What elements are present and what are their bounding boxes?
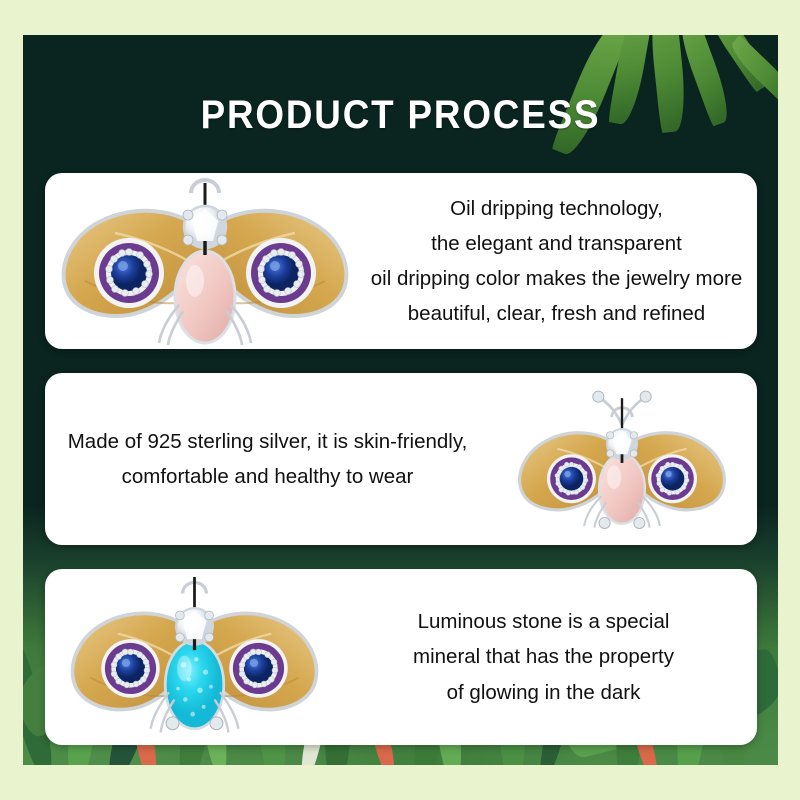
card-text-line: of glowing in the dark xyxy=(351,675,737,710)
card-text-oil-dripping: Oil dripping technology, the elegant and… xyxy=(365,191,757,332)
antenna-left xyxy=(599,398,621,425)
jewelry-image-sterling-silver xyxy=(487,384,757,534)
jewelry-image-luminous-stone xyxy=(45,577,345,737)
body-stone-pink xyxy=(599,454,645,523)
card-text-line: Made of 925 sterling silver, it is skin-… xyxy=(55,424,481,459)
moth-pendant-icon xyxy=(502,384,742,534)
card-text-line: Luminous stone is a special xyxy=(351,604,737,639)
eyespot-left-blue-stone xyxy=(559,467,583,491)
card-text-line: comfortable and healthy to wear xyxy=(55,459,481,494)
card-text-line: oil dripping color makes the jewelry mor… xyxy=(371,261,743,296)
process-card-luminous-stone: Luminous stone is a special mineral that… xyxy=(45,569,757,745)
process-card-oil-dripping: Oil dripping technology, the elegant and… xyxy=(45,173,757,349)
body-stone-pink xyxy=(175,251,235,343)
bamboo-leaf-icon xyxy=(699,35,773,93)
jewelry-image-oil-dripping xyxy=(45,177,365,345)
page-title: PRODUCT PROCESS xyxy=(53,93,748,138)
moth-pendant-icon xyxy=(55,177,355,345)
card-text-line: mineral that has the property xyxy=(351,639,737,674)
process-card-sterling-silver: Made of 925 sterling silver, it is skin-… xyxy=(45,373,757,545)
moth-pendant-icon xyxy=(57,577,332,737)
card-text-line: Oil dripping technology, xyxy=(371,191,743,226)
antenna-right xyxy=(622,398,644,425)
card-text-luminous-stone: Luminous stone is a special mineral that… xyxy=(345,604,757,710)
card-text-sterling-silver: Made of 925 sterling silver, it is skin-… xyxy=(45,424,487,495)
eyespot-right-blue-stone xyxy=(660,467,684,491)
infographic-panel: PRODUCT PROCESS xyxy=(23,35,778,765)
card-text-line: beautiful, clear, fresh and refined xyxy=(371,296,743,331)
card-text-line: the elegant and transparent xyxy=(371,226,743,261)
